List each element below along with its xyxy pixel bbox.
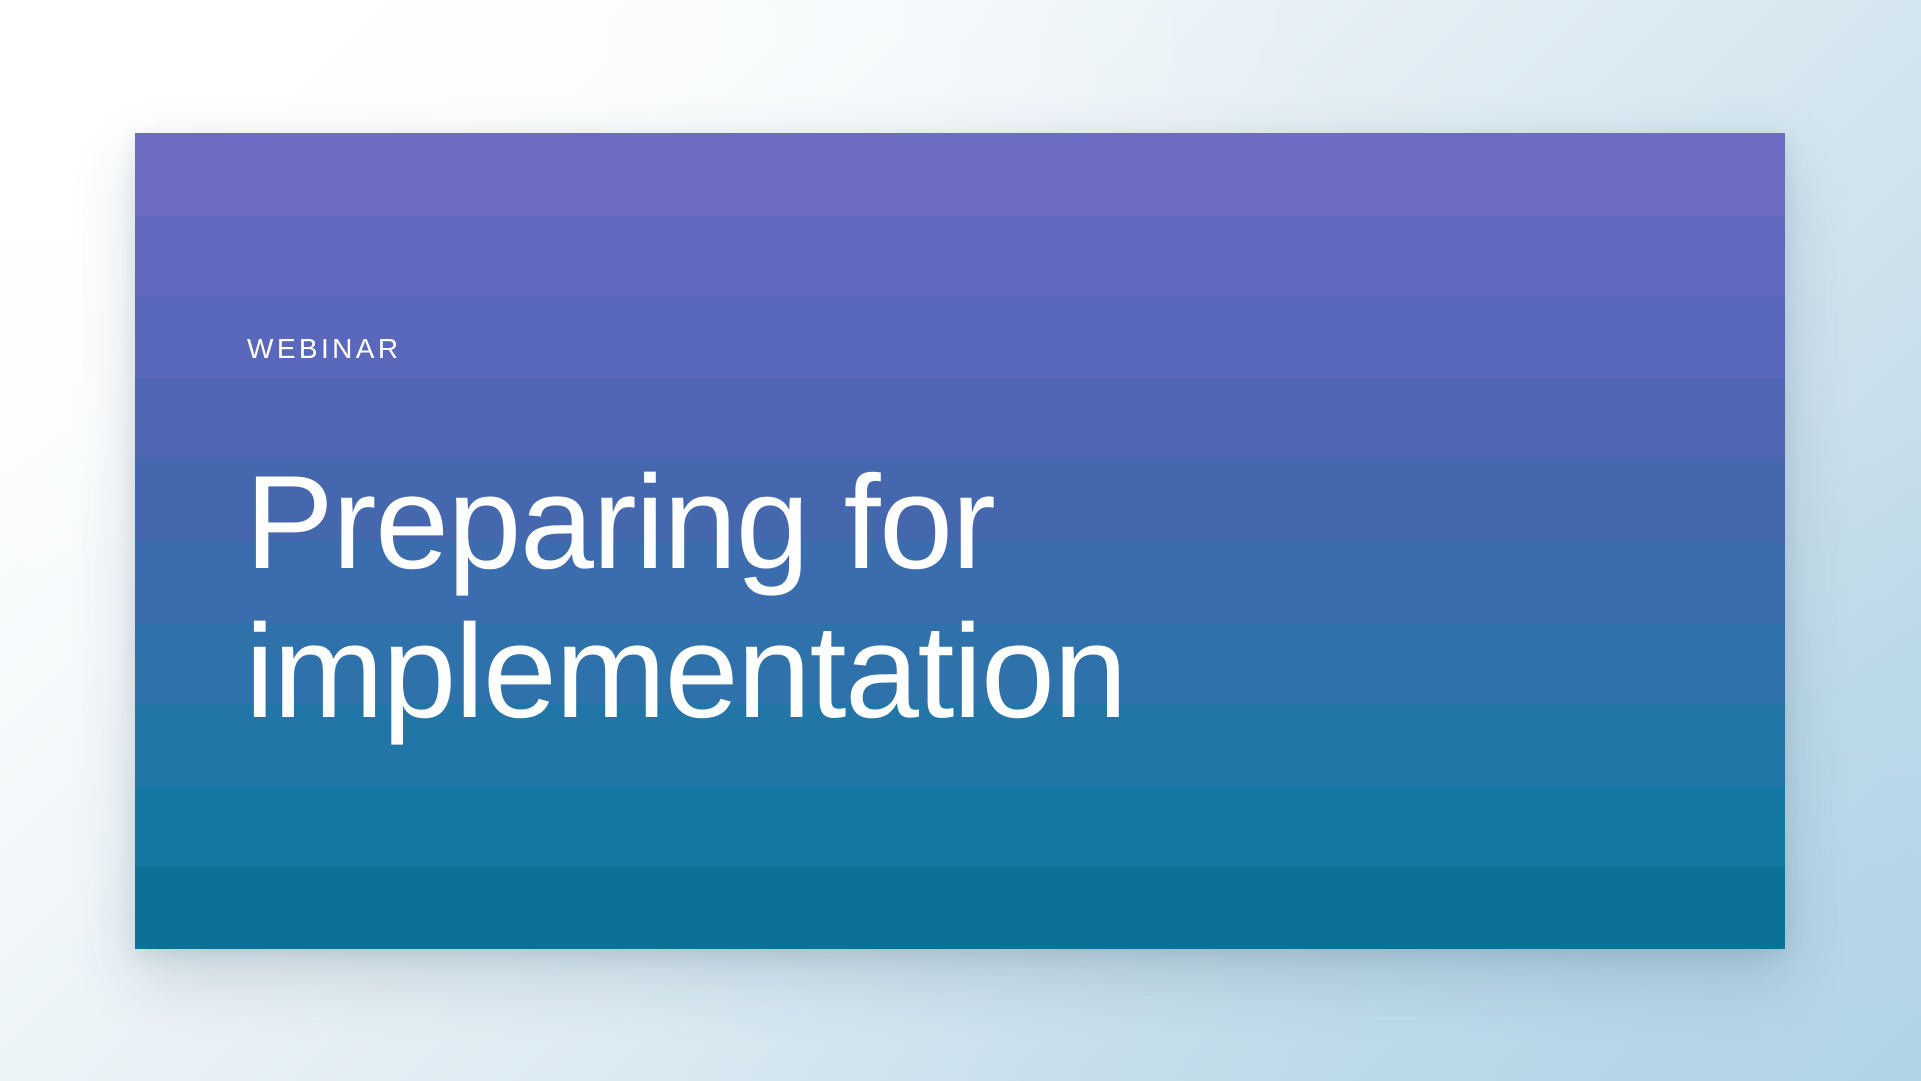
page-title: Preparing for implementation — [245, 449, 1425, 747]
hero-content: WEBINAR Preparing for implementation — [245, 133, 1785, 949]
page-title-line-2: implementation — [245, 598, 1425, 747]
page-background: WEBINAR Preparing for implementation — [0, 0, 1921, 1081]
eyebrow-label: WEBINAR — [247, 335, 1785, 363]
webinar-title-card: WEBINAR Preparing for implementation — [135, 133, 1785, 949]
page-title-line-1: Preparing for — [245, 449, 1425, 598]
